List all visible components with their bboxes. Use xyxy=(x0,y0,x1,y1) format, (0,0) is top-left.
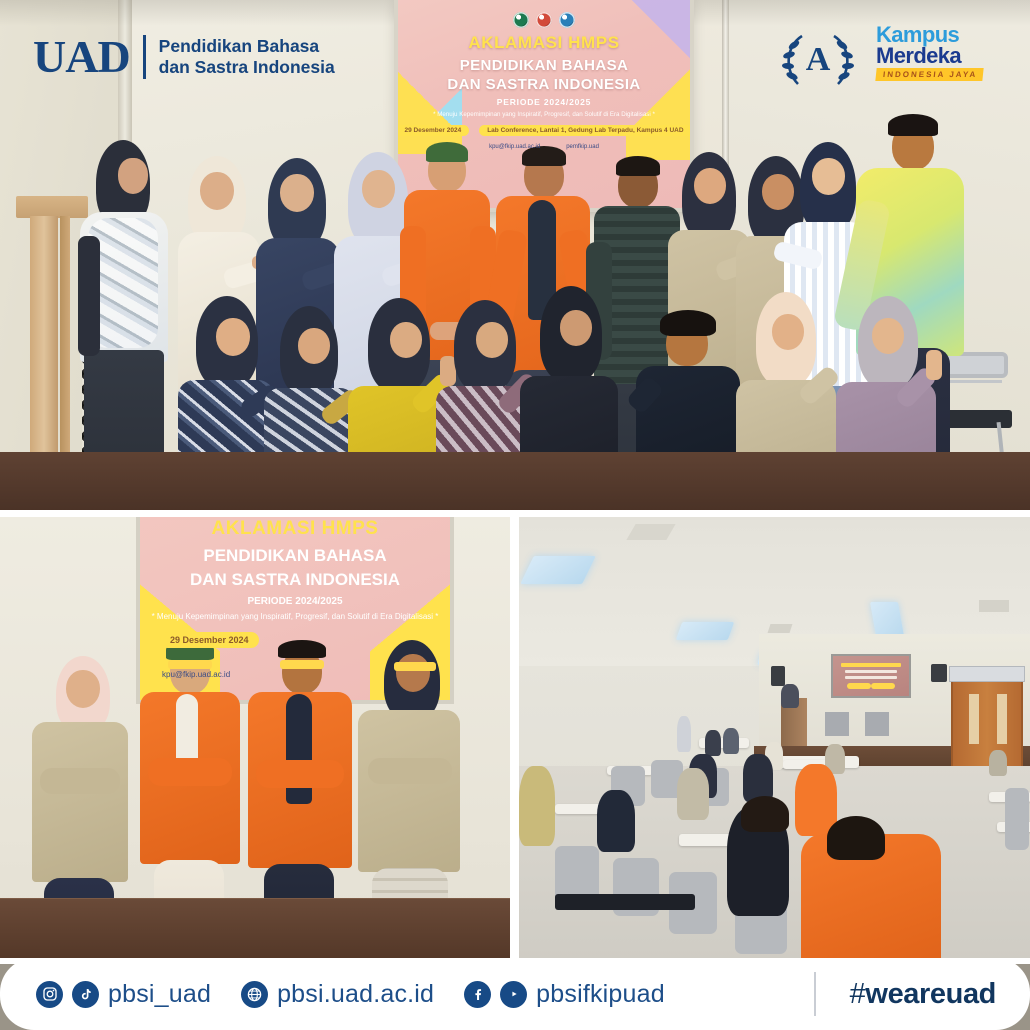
standing-photographer xyxy=(677,716,691,752)
foreground-head-2 xyxy=(827,816,885,860)
hall-double-door xyxy=(951,680,1023,770)
globe-icon[interactable] xyxy=(241,981,268,1008)
officer-4-yellow-mask xyxy=(394,662,436,671)
screen-tagline: * Menuju Kepemimpinan yang Inspiratif, P… xyxy=(398,111,690,118)
officers-photo: AKLAMASI HMPS PENDIDIKAN BAHASA DAN SAST… xyxy=(0,516,510,961)
hash-symbol: # xyxy=(850,978,866,1010)
screen-period: PERIODE 2024/2025 xyxy=(398,97,690,107)
department-name: Pendidikan Bahasa dan Sastra Indonesia xyxy=(159,36,335,79)
hall-projection-screen xyxy=(831,654,911,698)
screen-contact-email: kpu@fkip.uad.ac.id xyxy=(489,144,540,150)
photo-divider-vertical xyxy=(510,513,519,963)
hashtag-text: weareuad xyxy=(865,978,996,1010)
accreditation-badge: A xyxy=(772,28,864,92)
hall-chair-8 xyxy=(1005,788,1029,850)
hero-photo: AKLAMASI HMPS PENDIDIKAN BAHASA DAN SAST… xyxy=(0,0,1030,512)
facebook-handle[interactable]: pbsifkipuad xyxy=(536,980,665,1009)
ceiling-light-4 xyxy=(870,602,904,636)
ceiling-light-2 xyxy=(676,622,735,640)
bl-screen-period: PERIODE 2024/2025 xyxy=(140,596,450,607)
kampus-merdeka-logo: Kampus Merdeka INDONESIA JAYA xyxy=(876,24,983,81)
wall-speaker-right xyxy=(931,664,947,682)
foreground-head-1 xyxy=(741,796,789,832)
officer-2-yellow-mask xyxy=(168,660,212,669)
lecture-hall-photo xyxy=(519,516,1030,961)
wall-speaker-left xyxy=(771,666,785,686)
department-line-2: dan Sastra Indonesia xyxy=(159,57,335,78)
uad-logo: UAD Pendidikan Bahasa dan Sastra Indones… xyxy=(33,34,335,80)
bl-screen-email: kpu@fkip.uad.ac.id xyxy=(162,670,230,679)
department-line-1: Pendidikan Bahasa xyxy=(159,36,335,57)
bl-screen-subtitle-1: PENDIDIKAN BAHASA xyxy=(140,546,450,566)
hashtag-weareuad: #weareuad xyxy=(850,978,996,1011)
screen-place-chip: Lab Conference, Lantai 1, Gedung Lab Ter… xyxy=(479,125,690,136)
km-tagline: INDONESIA JAYA xyxy=(875,68,984,81)
accreditation-grade: A xyxy=(806,41,831,79)
footer-social-group-2: pbsi.uad.ac.id xyxy=(241,980,434,1009)
screen-title: AKLAMASI HMPS xyxy=(398,33,690,53)
seated-audience-2 xyxy=(743,754,773,802)
seated-front-1 xyxy=(705,730,721,756)
floor-top-photo xyxy=(0,452,1030,512)
km-line-2: Merdeka xyxy=(876,45,983,66)
instagram-icon[interactable] xyxy=(36,981,63,1008)
chair-seat-row xyxy=(555,894,695,910)
screen-subtitle-1: PENDIDIKAN BAHASA xyxy=(398,57,690,74)
stage-chair-2 xyxy=(865,712,889,736)
hmps-seal-icon xyxy=(559,12,575,28)
uad-seal-icon xyxy=(513,12,529,28)
ceiling-vent-2 xyxy=(979,600,1009,612)
bl-screen-date: 29 Desember 2024 xyxy=(160,632,259,648)
door-transom-window xyxy=(949,666,1025,682)
screen-contact-social: pemfkip.uad xyxy=(566,144,599,150)
speaker-at-podium xyxy=(781,684,799,708)
ceiling-vent-1 xyxy=(768,624,793,633)
uad-wordmark: UAD xyxy=(33,34,130,80)
footer-social-group-3: pbsifkipuad xyxy=(464,980,665,1009)
screen-org-logos xyxy=(398,12,690,28)
seated-audience-5 xyxy=(519,766,555,846)
stage-chair-1 xyxy=(825,712,849,736)
tiktok-icon[interactable] xyxy=(72,981,99,1008)
bl-floor xyxy=(0,899,510,961)
bl-screen-tagline: * Menuju Kepemimpinan yang Inspiratif, P… xyxy=(146,612,444,621)
bl-screen-title: AKLAMASI HMPS xyxy=(140,518,450,540)
poster-canvas: AKLAMASI HMPS PENDIDIKAN BAHASA DAN SAST… xyxy=(0,0,1030,1030)
youtube-icon[interactable] xyxy=(500,981,527,1008)
logo-divider xyxy=(143,35,146,79)
website-url[interactable]: pbsi.uad.ac.id xyxy=(277,980,434,1009)
kpu-seal-icon xyxy=(536,12,552,28)
bl-screen-subtitle-2: DAN SASTRA INDONESIA xyxy=(140,570,450,590)
seated-audience-right xyxy=(989,750,1007,776)
screen-subtitle-2: DAN SASTRA INDONESIA xyxy=(398,76,690,93)
km-line-1: Kampus xyxy=(876,24,983,45)
instagram-handle[interactable]: pbsi_uad xyxy=(108,980,211,1009)
seated-front-2 xyxy=(723,728,739,754)
projection-screen: AKLAMASI HMPS PENDIDIKAN BAHASA DAN SAST… xyxy=(398,0,690,208)
footer-separator xyxy=(814,972,816,1016)
social-footer: pbsi_uad pbsi.uad.ac.id xyxy=(0,958,1030,1030)
seated-audience-4 xyxy=(597,790,635,852)
footer-social-group-1: pbsi_uad xyxy=(36,980,211,1009)
screen-date-chip: 29 Desember 2024 xyxy=(398,125,469,136)
seated-audience-3 xyxy=(677,768,709,820)
facebook-icon[interactable] xyxy=(464,981,491,1008)
officer-3-yellow-mask xyxy=(280,660,324,669)
